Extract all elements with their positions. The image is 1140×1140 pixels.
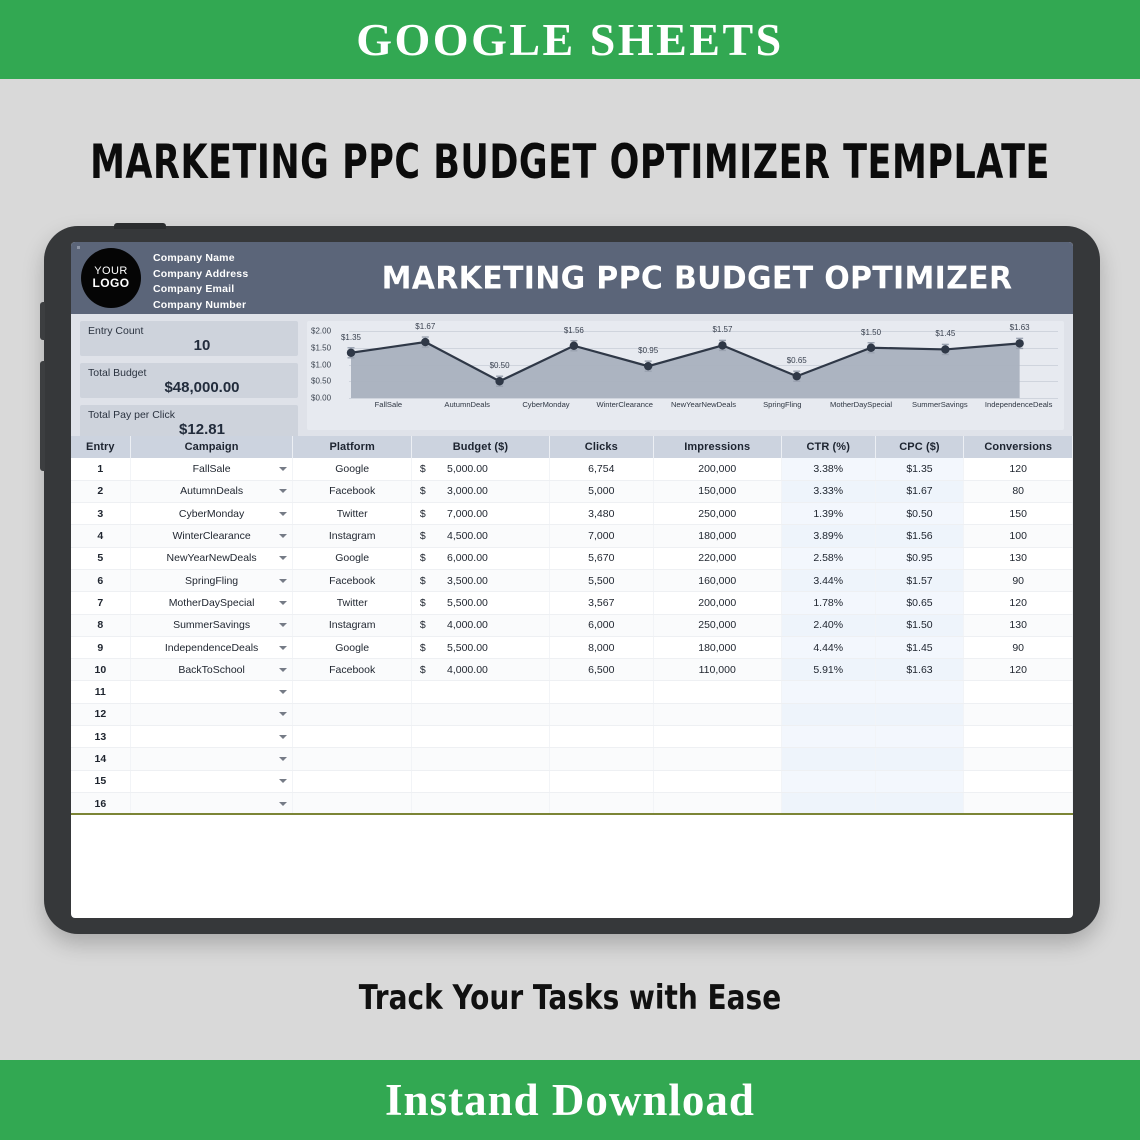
chart-point-label: $1.56	[564, 326, 584, 335]
cell-entry[interactable]: 7	[71, 592, 130, 614]
chevron-down-icon[interactable]	[279, 802, 287, 806]
chart-x-tick: MotherDaySpecial	[822, 400, 901, 424]
tablet-device-mockup: YOUR LOGO Company Name Company Address C…	[44, 226, 1100, 934]
cell-entry[interactable]: 14	[71, 748, 130, 770]
table-row[interactable]: 8SummerSavingsInstagram$4,000.006,000250…	[71, 614, 1073, 636]
cell-conversions[interactable]: 100	[964, 525, 1073, 547]
spreadsheet-header: YOUR LOGO Company Name Company Address C…	[71, 242, 1073, 314]
chevron-down-icon[interactable]	[279, 556, 287, 560]
cell-budget[interactable]: $5,500.00	[411, 636, 549, 658]
stat-label: Entry Count	[88, 325, 290, 337]
chart-point-label: $1.67	[415, 322, 435, 331]
chevron-down-icon[interactable]	[279, 757, 287, 761]
cell-conversions[interactable]: 120	[964, 659, 1073, 681]
cell-impressions[interactable]	[653, 770, 781, 792]
table-row[interactable]: 4WinterClearanceInstagram$4,500.007,0001…	[71, 525, 1073, 547]
chart-x-tick: CyberMonday	[507, 400, 586, 424]
col-conversions[interactable]: Conversions	[964, 436, 1073, 458]
cell-budget[interactable]: $4,500.00	[411, 525, 549, 547]
cell-ctr[interactable]: 1.39%	[781, 503, 875, 525]
chevron-down-icon[interactable]	[279, 512, 287, 516]
cell-campaign[interactable]: NewYearNewDeals	[130, 547, 293, 569]
chart-point-label: $0.65	[787, 356, 807, 365]
top-banner-text: GOOGLE SHEETS	[356, 13, 783, 66]
tagline: Track Your Tasks with Ease	[0, 978, 1140, 1018]
cell-platform[interactable]	[293, 770, 411, 792]
company-email: Company Email	[153, 282, 248, 298]
cell-budget[interactable]: $5,000.00	[411, 458, 549, 480]
cell-campaign[interactable]: MotherDaySpecial	[130, 592, 293, 614]
cell-campaign[interactable]: WinterClearance	[130, 525, 293, 547]
cell-entry[interactable]: 10	[71, 659, 130, 681]
campaign-table-wrapper: Entry Campaign Platform Budget ($) Click…	[71, 436, 1073, 815]
cell-conversions[interactable]: 130	[964, 547, 1073, 569]
cell-clicks[interactable]	[550, 748, 654, 770]
currency-symbol: $	[420, 508, 426, 520]
currency-symbol: $	[420, 642, 426, 654]
dashboard-row: Entry Count 10 Total Budget $48,000.00 T…	[71, 314, 1073, 436]
cell-conversions[interactable]	[964, 770, 1073, 792]
cell-ctr[interactable]: 4.44%	[781, 636, 875, 658]
chart-x-tick: NewYearNewDeals	[664, 400, 743, 424]
cell-impressions[interactable]: 150,000	[653, 480, 781, 502]
tablet-volume-down-button[interactable]	[40, 361, 45, 471]
cell-ctr[interactable]: 3.44%	[781, 569, 875, 591]
cell-ctr[interactable]	[781, 748, 875, 770]
cell-conversions[interactable]	[964, 792, 1073, 814]
chart-data-point[interactable]	[570, 342, 578, 350]
chart-point-label: $0.95	[638, 346, 658, 355]
chart-point-label: $0.50	[490, 361, 510, 370]
summary-stats: Entry Count 10 Total Budget $48,000.00 T…	[80, 321, 298, 430]
cell-entry[interactable]: 11	[71, 681, 130, 703]
cell-budget[interactable]: $4,000.00	[411, 659, 549, 681]
chart-x-tick: SummerSavings	[900, 400, 979, 424]
cell-cpc[interactable]	[875, 726, 964, 748]
cell-conversions[interactable]	[964, 681, 1073, 703]
cell-campaign[interactable]	[130, 748, 293, 770]
cell-cpc[interactable]: $1.57	[875, 569, 964, 591]
cell-conversions[interactable]: 90	[964, 636, 1073, 658]
cell-conversions[interactable]	[964, 726, 1073, 748]
cell-entry[interactable]: 6	[71, 569, 130, 591]
cell-entry[interactable]: 12	[71, 703, 130, 725]
company-name: Company Name	[153, 251, 248, 267]
chart-point-label: $1.57	[712, 325, 732, 334]
cell-entry[interactable]: 4	[71, 525, 130, 547]
chevron-down-icon[interactable]	[279, 601, 287, 605]
chart-x-tick: WinterClearance	[585, 400, 664, 424]
chevron-down-icon[interactable]	[279, 623, 287, 627]
cell-budget[interactable]	[411, 726, 549, 748]
tablet-screen: YOUR LOGO Company Name Company Address C…	[71, 242, 1073, 918]
cell-conversions[interactable]: 120	[964, 458, 1073, 480]
chart-canvas: $0.00$0.50$1.00$1.50$2.00$1.35$1.67$0.50…	[307, 321, 1064, 430]
col-budget[interactable]: Budget ($)	[411, 436, 549, 458]
chevron-down-icon[interactable]	[279, 668, 287, 672]
cell-cpc[interactable]: $1.67	[875, 480, 964, 502]
chevron-down-icon[interactable]	[279, 534, 287, 538]
cell-campaign[interactable]	[130, 770, 293, 792]
cell-clicks[interactable]: 5,500	[550, 569, 654, 591]
col-clicks[interactable]: Clicks	[550, 436, 654, 458]
cell-campaign[interactable]: FallSale	[130, 458, 293, 480]
cell-budget[interactable]: $4,000.00	[411, 614, 549, 636]
cell-cpc[interactable]: $0.65	[875, 592, 964, 614]
cell-campaign[interactable]	[130, 726, 293, 748]
cell-ctr[interactable]	[781, 703, 875, 725]
chevron-down-icon[interactable]	[279, 712, 287, 716]
cell-clicks[interactable]: 6,000	[550, 614, 654, 636]
table-header-row: Entry Campaign Platform Budget ($) Click…	[71, 436, 1073, 458]
cell-clicks[interactable]: 5,670	[550, 547, 654, 569]
cell-platform[interactable]: Facebook	[293, 659, 411, 681]
cell-budget[interactable]: $7,000.00	[411, 503, 549, 525]
table-row[interactable]: 5NewYearNewDealsGoogle$6,000.005,670220,…	[71, 547, 1073, 569]
campaign-table: Entry Campaign Platform Budget ($) Click…	[71, 436, 1073, 815]
cell-entry[interactable]: 5	[71, 547, 130, 569]
table-row[interactable]: 9IndependenceDealsGoogle$5,500.008,00018…	[71, 636, 1073, 658]
chart-x-tick: AutumnDeals	[428, 400, 507, 424]
stat-card-total-pay-per-click: Total Pay per Click $12.81	[80, 405, 298, 440]
chart-data-point[interactable]	[644, 362, 652, 370]
cell-conversions[interactable]: 150	[964, 503, 1073, 525]
chart-data-point[interactable]	[941, 345, 949, 353]
cell-budget[interactable]: $3,000.00	[411, 480, 549, 502]
table-row[interactable]: 13	[71, 726, 1073, 748]
chart-x-axis: FallSaleAutumnDealsCyberMondayWinterClea…	[349, 400, 1058, 424]
stat-value: 10	[88, 337, 290, 354]
cell-conversions[interactable]: 130	[964, 614, 1073, 636]
cell-campaign[interactable]: IndependenceDeals	[130, 636, 293, 658]
spreadsheet-title: MARKETING PPC BUDGET OPTIMIZER	[321, 260, 1073, 297]
chevron-down-icon[interactable]	[279, 779, 287, 783]
cell-impressions[interactable]	[653, 681, 781, 703]
currency-symbol: $	[420, 485, 426, 497]
cell-entry[interactable]: 3	[71, 503, 130, 525]
cell-campaign[interactable]: CyberMonday	[130, 503, 293, 525]
stat-card-entry-count: Entry Count 10	[80, 321, 298, 356]
cell-ctr[interactable]	[781, 792, 875, 814]
stat-card-total-budget: Total Budget $48,000.00	[80, 363, 298, 398]
cell-ctr[interactable]: 1.78%	[781, 592, 875, 614]
col-ctr[interactable]: CTR (%)	[781, 436, 875, 458]
cell-cpc[interactable]	[875, 681, 964, 703]
table-row[interactable]: 1FallSaleGoogle$5,000.006,754200,0003.38…	[71, 458, 1073, 480]
cell-impressions[interactable]: 250,000	[653, 503, 781, 525]
cell-platform[interactable]: Google	[293, 636, 411, 658]
cell-impressions[interactable]	[653, 726, 781, 748]
cell-cpc[interactable]: $1.56	[875, 525, 964, 547]
cell-impressions[interactable]: 250,000	[653, 614, 781, 636]
cell-platform[interactable]	[293, 703, 411, 725]
company-info: Company Name Company Address Company Ema…	[153, 251, 248, 313]
table-row[interactable]: 7MotherDaySpecialTwitter$5,500.003,56720…	[71, 592, 1073, 614]
cell-budget[interactable]	[411, 681, 549, 703]
cell-impressions[interactable]: 180,000	[653, 525, 781, 547]
cell-clicks[interactable]: 3,567	[550, 592, 654, 614]
company-number: Company Number	[153, 298, 248, 314]
table-row[interactable]: 16	[71, 792, 1073, 814]
cell-entry[interactable]: 15	[71, 770, 130, 792]
cell-budget[interactable]	[411, 748, 549, 770]
chevron-down-icon[interactable]	[279, 646, 287, 650]
cell-conversions[interactable]	[964, 748, 1073, 770]
page-title: MARKETING PPC BUDGET OPTIMIZER TEMPLATE	[0, 136, 1140, 190]
currency-symbol: $	[420, 597, 426, 609]
cell-platform[interactable]	[293, 681, 411, 703]
table-body: 1FallSaleGoogle$5,000.006,754200,0003.38…	[71, 458, 1073, 815]
cell-ctr[interactable]: 3.38%	[781, 458, 875, 480]
chart-data-point[interactable]	[718, 341, 726, 349]
chart-data-point[interactable]	[1015, 339, 1023, 347]
cell-platform[interactable]: Instagram	[293, 614, 411, 636]
cell-budget[interactable]: $3,500.00	[411, 569, 549, 591]
col-impressions[interactable]: Impressions	[653, 436, 781, 458]
chart-data-point[interactable]	[793, 372, 801, 380]
bottom-banner: Instand Download	[0, 1060, 1140, 1140]
table-row[interactable]: 3CyberMondayTwitter$7,000.003,480250,000…	[71, 503, 1073, 525]
cell-ctr[interactable]: 3.89%	[781, 525, 875, 547]
cell-ctr[interactable]: 3.33%	[781, 480, 875, 502]
cell-conversions[interactable]: 80	[964, 480, 1073, 502]
chart-data-point[interactable]	[867, 344, 875, 352]
cell-impressions[interactable]	[653, 703, 781, 725]
cell-ctr[interactable]: 2.40%	[781, 614, 875, 636]
cell-platform[interactable]: Instagram	[293, 525, 411, 547]
cell-platform[interactable]: Twitter	[293, 503, 411, 525]
table-row[interactable]: 11	[71, 681, 1073, 703]
tablet-power-button[interactable]	[114, 223, 166, 229]
logo-line-2: LOGO	[93, 277, 130, 290]
table-row[interactable]: 14	[71, 748, 1073, 770]
corner-marker-icon	[77, 246, 80, 249]
cell-platform[interactable]	[293, 792, 411, 814]
cell-ctr[interactable]	[781, 681, 875, 703]
cell-cpc[interactable]: $1.50	[875, 614, 964, 636]
cell-budget[interactable]	[411, 792, 549, 814]
chart-data-point[interactable]	[347, 349, 355, 357]
cell-entry[interactable]: 9	[71, 636, 130, 658]
chart-point-label: $1.45	[935, 329, 955, 338]
sheet-bottom-edge	[71, 813, 1073, 815]
cell-entry[interactable]: 16	[71, 792, 130, 814]
cell-platform[interactable]: Twitter	[293, 592, 411, 614]
cell-ctr[interactable]: 5.91%	[781, 659, 875, 681]
cell-impressions[interactable]: 200,000	[653, 592, 781, 614]
cell-conversions[interactable]	[964, 703, 1073, 725]
cell-campaign[interactable]	[130, 703, 293, 725]
cell-impressions[interactable]: 180,000	[653, 636, 781, 658]
cell-platform[interactable]	[293, 726, 411, 748]
chart-x-tick: SpringFling	[743, 400, 822, 424]
cell-clicks[interactable]: 8,000	[550, 636, 654, 658]
cell-platform[interactable]	[293, 748, 411, 770]
cpc-line-chart: $0.00$0.50$1.00$1.50$2.00$1.35$1.67$0.50…	[307, 321, 1064, 430]
currency-symbol: $	[420, 530, 426, 542]
col-cpc[interactable]: CPC ($)	[875, 436, 964, 458]
table-row[interactable]: 15	[71, 770, 1073, 792]
cell-cpc[interactable]	[875, 792, 964, 814]
cell-clicks[interactable]	[550, 703, 654, 725]
col-platform[interactable]: Platform	[293, 436, 411, 458]
stat-label: Total Pay per Click	[88, 409, 290, 421]
chevron-down-icon[interactable]	[279, 690, 287, 694]
currency-symbol: $	[420, 619, 426, 631]
cell-impressions[interactable]: 160,000	[653, 569, 781, 591]
cell-clicks[interactable]: 6,500	[550, 659, 654, 681]
cell-cpc[interactable]: $1.45	[875, 636, 964, 658]
cell-clicks[interactable]	[550, 681, 654, 703]
cell-impressions[interactable]: 220,000	[653, 547, 781, 569]
chart-x-tick: IndependenceDeals	[979, 400, 1058, 424]
cell-campaign[interactable]	[130, 792, 293, 814]
cell-campaign[interactable]: SummerSavings	[130, 614, 293, 636]
cell-entry[interactable]: 1	[71, 458, 130, 480]
chart-data-point[interactable]	[421, 338, 429, 346]
cell-campaign[interactable]: AutumnDeals	[130, 480, 293, 502]
stat-value: $48,000.00	[88, 379, 290, 396]
cell-impressions[interactable]: 200,000	[653, 458, 781, 480]
cell-clicks[interactable]: 5,000	[550, 480, 654, 502]
cell-impressions[interactable]	[653, 792, 781, 814]
cell-ctr[interactable]	[781, 770, 875, 792]
col-entry[interactable]: Entry	[71, 436, 130, 458]
chevron-down-icon[interactable]	[279, 467, 287, 471]
chart-point-label: $1.63	[1010, 323, 1030, 332]
tablet-volume-up-button[interactable]	[40, 302, 45, 340]
chart-x-tick: FallSale	[349, 400, 428, 424]
cell-clicks[interactable]	[550, 726, 654, 748]
table-row[interactable]: 12	[71, 703, 1073, 725]
cell-impressions[interactable]: 110,000	[653, 659, 781, 681]
cell-clicks[interactable]	[550, 770, 654, 792]
cell-clicks[interactable]: 3,480	[550, 503, 654, 525]
cell-campaign[interactable]: SpringFling	[130, 569, 293, 591]
table-row[interactable]: 6SpringFlingFacebook$3,500.005,500160,00…	[71, 569, 1073, 591]
chart-data-point[interactable]	[495, 377, 503, 385]
cell-cpc[interactable]	[875, 770, 964, 792]
company-logo: YOUR LOGO	[81, 248, 141, 308]
cell-cpc[interactable]	[875, 748, 964, 770]
chart-area-fill	[351, 342, 1020, 398]
chevron-down-icon[interactable]	[279, 735, 287, 739]
cell-campaign[interactable]: BackToSchool	[130, 659, 293, 681]
cell-entry[interactable]: 8	[71, 614, 130, 636]
cell-clicks[interactable]	[550, 792, 654, 814]
bottom-banner-text: Instand Download	[385, 1074, 755, 1126]
currency-symbol: $	[420, 575, 426, 587]
cell-entry[interactable]: 2	[71, 480, 130, 502]
col-campaign[interactable]: Campaign	[130, 436, 293, 458]
cell-budget[interactable]: $6,000.00	[411, 547, 549, 569]
cell-platform[interactable]: Google	[293, 458, 411, 480]
stat-label: Total Budget	[88, 367, 290, 379]
cell-cpc[interactable]: $0.50	[875, 503, 964, 525]
cell-budget[interactable]: $5,500.00	[411, 592, 549, 614]
cell-platform[interactable]: Facebook	[293, 480, 411, 502]
chevron-down-icon[interactable]	[279, 489, 287, 493]
chevron-down-icon[interactable]	[279, 579, 287, 583]
cell-budget[interactable]	[411, 703, 549, 725]
top-banner: GOOGLE SHEETS	[0, 0, 1140, 79]
chart-point-label: $1.35	[341, 333, 361, 342]
cell-cpc[interactable]	[875, 703, 964, 725]
cell-ctr[interactable]	[781, 726, 875, 748]
table-row[interactable]: 2AutumnDealsFacebook$3,000.005,000150,00…	[71, 480, 1073, 502]
currency-symbol: $	[420, 463, 426, 475]
cell-platform[interactable]: Google	[293, 547, 411, 569]
cell-clicks[interactable]: 7,000	[550, 525, 654, 547]
chart-point-label: $1.50	[861, 328, 881, 337]
cell-entry[interactable]: 13	[71, 726, 130, 748]
cell-campaign[interactable]	[130, 681, 293, 703]
cell-cpc[interactable]: $0.95	[875, 547, 964, 569]
cell-conversions[interactable]: 120	[964, 592, 1073, 614]
cell-platform[interactable]: Facebook	[293, 569, 411, 591]
cell-budget[interactable]	[411, 770, 549, 792]
cell-conversions[interactable]: 90	[964, 569, 1073, 591]
cell-impressions[interactable]	[653, 748, 781, 770]
cell-cpc[interactable]: $1.63	[875, 659, 964, 681]
cell-clicks[interactable]: 6,754	[550, 458, 654, 480]
cell-ctr[interactable]: 2.58%	[781, 547, 875, 569]
table-row[interactable]: 10BackToSchoolFacebook$4,000.006,500110,…	[71, 659, 1073, 681]
currency-symbol: $	[420, 552, 426, 564]
cell-cpc[interactable]: $1.35	[875, 458, 964, 480]
company-address: Company Address	[153, 267, 248, 283]
currency-symbol: $	[420, 664, 426, 676]
